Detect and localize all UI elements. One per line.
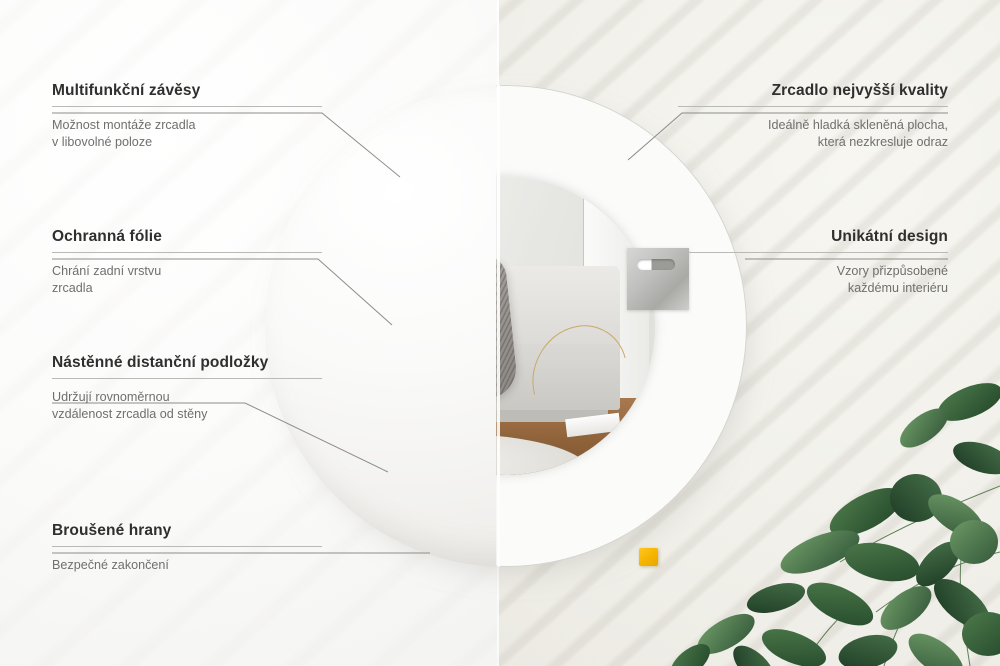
callout-ochranna-folie: Ochranná fólie Chrání zadní vrstvuzrcadl… bbox=[52, 228, 322, 297]
callout-title: Multifunkční závěsy bbox=[52, 82, 322, 100]
callout-rule bbox=[52, 106, 322, 107]
mirror-disc bbox=[265, 85, 747, 567]
callout-nastenne-distancni-podlozky: Nástěnné distanční podložky Udržují rovn… bbox=[52, 354, 322, 423]
callout-description: Ideálně hladká skleněná plocha,která nez… bbox=[678, 117, 948, 151]
callout-rule bbox=[678, 252, 948, 253]
callout-rule bbox=[52, 378, 322, 379]
callout-multifunkcni-zavesy: Multifunkční závěsy Možnost montáže zrca… bbox=[52, 82, 322, 151]
callout-rule bbox=[52, 252, 322, 253]
infographic-canvas: Multifunkční závěsy Možnost montáže zrca… bbox=[0, 0, 1000, 666]
wall-spacer-pad bbox=[639, 548, 658, 566]
callout-description: Možnost montáže zrcadlav libovolné poloz… bbox=[52, 117, 322, 151]
hanger-keyhole-slot bbox=[637, 259, 675, 270]
callout-description: Vzory přizpůsobenékaždému interiéru bbox=[678, 263, 948, 297]
callout-title: Zrcadlo nejvyšší kvality bbox=[678, 82, 948, 100]
callout-description: Udržují rovnoměrnouvzdálenost zrcadla od… bbox=[52, 389, 322, 423]
callout-title: Unikátní design bbox=[678, 228, 948, 246]
callout-description: Bezpečné zakončení bbox=[52, 557, 322, 574]
callout-rule bbox=[52, 546, 322, 547]
callout-title: Broušené hrany bbox=[52, 522, 322, 540]
callout-title: Ochranná fólie bbox=[52, 228, 322, 246]
callout-brousene-hrany: Broušené hrany Bezpečné zakončení bbox=[52, 522, 322, 574]
mirror-product bbox=[265, 85, 747, 567]
callout-unikatni-design: Unikátní design Vzory přizpůsobenékaždém… bbox=[678, 228, 948, 297]
callout-rule bbox=[678, 106, 948, 107]
callout-description: Chrání zadní vrstvuzrcadla bbox=[52, 263, 322, 297]
mirror-half-split-line bbox=[497, 85, 500, 567]
callout-zrcadlo-nejvyssi-kvality: Zrcadlo nejvyšší kvality Ideálně hladká … bbox=[678, 82, 948, 151]
callout-title: Nástěnné distanční podložky bbox=[52, 354, 322, 372]
